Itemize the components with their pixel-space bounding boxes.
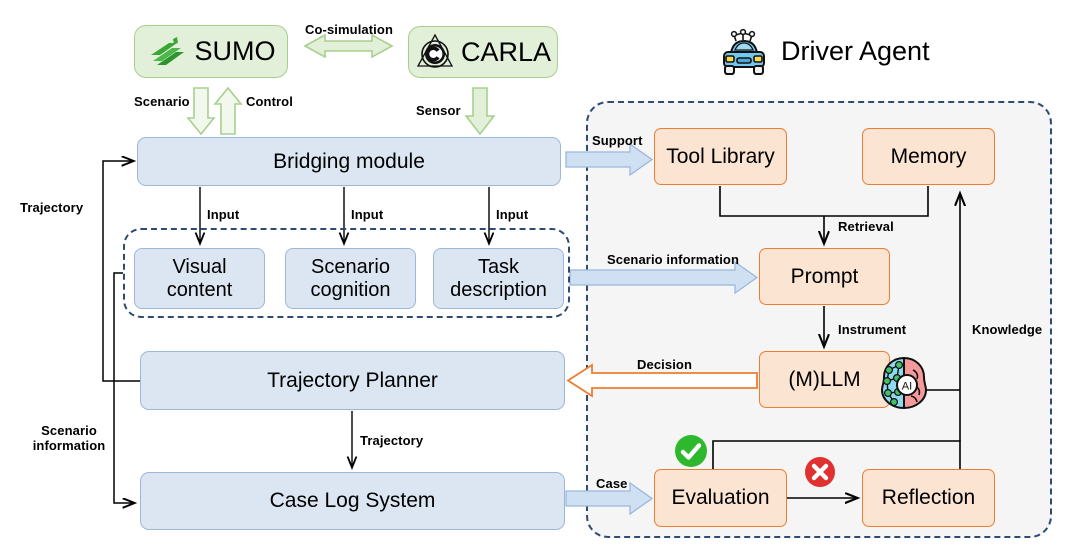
node-trajectory-planner[interactable]: Trajectory Planner — [140, 351, 565, 410]
scenario-information-label-left: Scenario information — [26, 423, 112, 454]
node-carla[interactable]: CARLA — [408, 26, 558, 78]
node-sumo-label: SUMO — [195, 36, 276, 66]
cosimulation-label: Co-simulation — [305, 22, 393, 37]
trajectory-feedback-label: Trajectory — [20, 200, 83, 215]
node-sumo[interactable]: SUMO — [134, 25, 288, 78]
check-circle-icon — [673, 433, 709, 469]
node-prompt-label: Prompt — [791, 265, 859, 289]
scenario-information-edge-label: Scenario information — [607, 252, 739, 267]
node-tool-library-label: Tool Library — [666, 145, 775, 169]
node-trajectory-planner-label: Trajectory Planner — [267, 369, 438, 393]
sensor-arrow — [466, 88, 494, 134]
node-bridging-module-label: Bridging module — [273, 150, 425, 174]
svg-text:AI: AI — [902, 381, 912, 393]
autonomous-car-icon — [716, 27, 772, 77]
ai-brain-icon: AI — [873, 352, 935, 414]
retrieval-label: Retrieval — [838, 219, 894, 234]
node-tool-library[interactable]: Tool Library — [654, 128, 787, 185]
input-label-3: Input — [496, 207, 528, 222]
cross-circle-icon — [803, 455, 837, 489]
node-llm-label: (M)LLM — [788, 368, 860, 392]
instrument-label: Instrument — [838, 322, 906, 337]
node-memory-label: Memory — [891, 145, 967, 169]
carla-logo-icon — [415, 32, 455, 72]
scenario-label: Scenario — [134, 94, 190, 109]
node-bridging-module[interactable]: Bridging module — [137, 137, 561, 186]
node-memory[interactable]: Memory — [862, 128, 995, 185]
node-reflection[interactable]: Reflection — [862, 469, 995, 527]
node-visual-content-line1: Visual — [172, 256, 226, 278]
input-label-1: Input — [207, 207, 239, 222]
node-evaluation-label: Evaluation — [671, 486, 769, 510]
trajectory-label: Trajectory — [360, 433, 423, 448]
node-scenario-cognition[interactable]: Scenario cognition — [285, 248, 416, 309]
node-case-log-system-label: Case Log System — [270, 489, 436, 513]
scenario-information-line2: information — [33, 438, 106, 453]
node-llm[interactable]: (M)LLM — [759, 351, 890, 408]
cosimulation-arrow — [305, 35, 392, 57]
diagram-canvas: SUMO CARLA Bridging module Visual conten… — [0, 0, 1080, 557]
node-task-description[interactable]: Task description — [433, 248, 564, 309]
control-arrow — [215, 88, 241, 134]
driver-agent-title: Driver Agent — [781, 36, 930, 67]
support-label: Support — [592, 133, 643, 148]
node-visual-content-line2: content — [167, 279, 233, 301]
node-case-log-system[interactable]: Case Log System — [140, 472, 565, 530]
node-reflection-label: Reflection — [882, 486, 975, 510]
node-task-description-line2: description — [450, 279, 547, 301]
scenario-information-line1: Scenario — [41, 423, 97, 438]
case-label: Case — [596, 476, 627, 491]
node-scenario-cognition-line1: Scenario — [311, 256, 390, 278]
knowledge-label: Knowledge — [972, 322, 1042, 337]
node-scenario-cognition-line2: cognition — [310, 279, 390, 301]
node-visual-content[interactable]: Visual content — [134, 248, 265, 309]
decision-label: Decision — [637, 357, 692, 372]
input-label-2: Input — [351, 207, 383, 222]
node-prompt[interactable]: Prompt — [759, 248, 890, 305]
node-evaluation[interactable]: Evaluation — [654, 469, 787, 527]
node-task-description-line1: Task — [478, 256, 519, 278]
sumo-logo-icon — [147, 35, 187, 69]
control-label: Control — [246, 94, 293, 109]
scenario-arrow — [188, 88, 214, 134]
node-carla-label: CARLA — [461, 37, 551, 67]
sensor-label: Sensor — [416, 103, 461, 118]
